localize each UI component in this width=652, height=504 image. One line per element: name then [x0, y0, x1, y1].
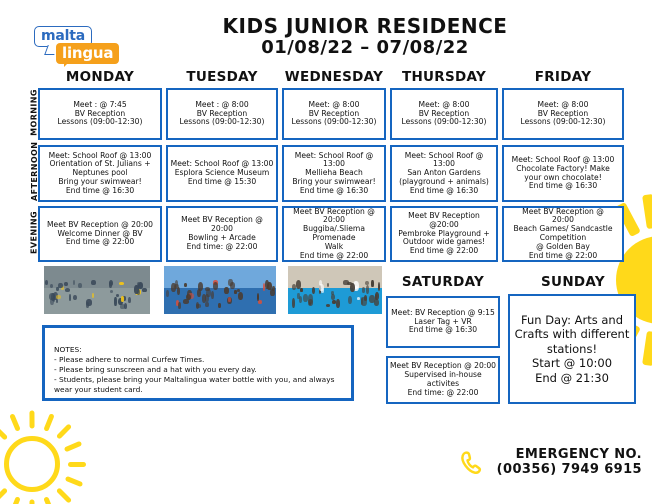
- photo-person: [178, 302, 181, 308]
- photo-person: [369, 295, 375, 303]
- group-boat-party-photo: [164, 266, 276, 314]
- sun-ray: [30, 500, 35, 504]
- schedule-cell-afternoon-wednesday[interactable]: Meet: School Roof @ 13:00 Mellieha Beach…: [282, 145, 386, 202]
- schedule-cell-afternoon-thursday[interactable]: Meet: School Roof @ 13:00 San Anton Gard…: [390, 145, 498, 202]
- photo-person: [237, 289, 240, 292]
- sun-ray: [9, 496, 20, 504]
- photo-person: [378, 282, 380, 291]
- photo-person: [65, 288, 71, 292]
- schedule-cell-morning-thursday[interactable]: Meet: @ 8:00 BV Reception Lessons (09:00…: [390, 88, 498, 140]
- schedule-cell-morning-monday[interactable]: Meet : @ 7:45 BV Reception Lessons (09:0…: [38, 88, 162, 140]
- photo-person: [336, 299, 340, 308]
- schedule-cell-evening-thursday[interactable]: Meet BV Reception @20:00 Pembroke Playgr…: [390, 206, 498, 262]
- photo-person: [186, 294, 191, 300]
- photo-person: [343, 280, 348, 284]
- sun-ray: [56, 488, 72, 504]
- sun-ray: [64, 441, 83, 453]
- sun-ray: [55, 424, 71, 440]
- notes-text: NOTES: - Please adhere to normal Curfew …: [54, 345, 345, 395]
- photo-person: [228, 297, 230, 302]
- sun-ray: [0, 424, 8, 440]
- maltalingua-logo: malta lingua: [34, 26, 130, 62]
- photo-person: [177, 287, 180, 295]
- emergency-contact: EMERGENCY NO. (00356) 7949 6915: [497, 448, 642, 478]
- notes-box: NOTES: - Please adhere to normal Curfew …: [42, 325, 354, 401]
- photo-person: [297, 293, 300, 299]
- date-range: 01/08/22 – 07/08/22: [215, 38, 515, 58]
- photo-person: [238, 292, 243, 300]
- photo-person: [91, 280, 96, 285]
- schedule-cell-evening-wednesday[interactable]: Meet BV Reception @ 20:00 Buggiba/.Sliem…: [282, 206, 386, 262]
- photo-person: [58, 283, 62, 288]
- day-header-sunday: SUNDAY: [512, 274, 634, 290]
- photo-person: [332, 300, 336, 304]
- schedule-cell-evening-tuesday[interactable]: Meet BV Reception @ 20:00 Bowling + Arca…: [166, 206, 278, 262]
- photo-person: [213, 282, 218, 290]
- sun-ray: [64, 475, 83, 486]
- photo-person: [230, 282, 235, 288]
- photo-person: [224, 287, 229, 294]
- photo-person: [184, 283, 187, 287]
- photo-person: [371, 280, 373, 287]
- sun-ray: [43, 413, 54, 432]
- photo-person: [303, 294, 308, 302]
- schedule-cell-evening-monday[interactable]: Meet BV Reception @ 20:00 Welcome Dinner…: [38, 206, 162, 262]
- photo-person: [205, 294, 209, 302]
- day-header-saturday: SATURDAY: [384, 274, 502, 290]
- photo-person: [258, 300, 262, 304]
- photo-person: [205, 302, 209, 307]
- group-aerial-photo: [44, 266, 150, 314]
- photo-person: [45, 280, 49, 286]
- photo-person: [86, 302, 89, 308]
- photo-person: [124, 303, 127, 309]
- photo-person: [78, 283, 82, 288]
- photo-person: [73, 280, 75, 285]
- photo-person: [142, 288, 147, 292]
- photo-person: [292, 298, 295, 308]
- sun-ray: [642, 194, 652, 229]
- schedule-cell-morning-tuesday[interactable]: Meet : @ 8:00 BV Reception Lessons (09:0…: [166, 88, 278, 140]
- sun-core: [4, 436, 60, 492]
- day-header-thursday: THURSDAY: [390, 69, 498, 85]
- photo-person: [218, 303, 221, 308]
- photo-person: [296, 280, 302, 289]
- sun-ray: [29, 410, 34, 428]
- photo-background: [164, 266, 276, 289]
- sun-ray: [9, 413, 21, 432]
- schedule-cell-afternoon-friday[interactable]: Meet: School Roof @ 13:00 Chocolate Fact…: [502, 145, 624, 202]
- photo-person: [327, 283, 329, 287]
- schedule-cell-morning-friday[interactable]: Meet: @ 8:00 BV Reception Lessons (09:00…: [502, 88, 624, 140]
- schedule-cell-sunday[interactable]: Fun Day: Arts and Crafts with different …: [508, 294, 636, 404]
- schedule-cell-saturday-daytime[interactable]: Meet: BV Reception @ 9:15 Laser Tag + VR…: [386, 296, 500, 348]
- photo-person: [365, 281, 369, 286]
- photo-person: [134, 285, 139, 294]
- day-header-friday: FRIDAY: [502, 69, 624, 85]
- schedule-cell-evening-friday[interactable]: Meet BV Reception @ 20:00 Beach Games/ S…: [502, 206, 624, 262]
- photo-person: [114, 297, 116, 305]
- photo-person: [366, 285, 369, 294]
- group-poolside-photo: [288, 266, 382, 314]
- day-header-monday: MONDAY: [38, 69, 162, 85]
- schedule-cell-saturday-evening[interactable]: Meet BV Reception @ 20:00 Supervised in-…: [386, 356, 500, 404]
- day-header-tuesday: TUESDAY: [166, 69, 278, 85]
- photo-person: [196, 302, 199, 309]
- photo-person: [265, 280, 269, 289]
- photo-person: [272, 286, 275, 291]
- photo-person: [300, 288, 303, 293]
- schedule-cell-afternoon-monday[interactable]: Meet: School Roof @ 13:00 Orientation of…: [38, 145, 162, 202]
- schedule-cell-afternoon-tuesday[interactable]: Meet: School Roof @ 13:00 Esplora Scienc…: [166, 145, 278, 202]
- logo-lingua-text: lingua: [56, 43, 119, 64]
- sun-ray: [44, 496, 56, 504]
- photo-person: [350, 283, 355, 292]
- emergency-label: EMERGENCY NO.: [497, 448, 642, 463]
- poster-title-block: KIDS JUNIOR RESIDENCE 01/08/22 – 07/08/2…: [215, 16, 515, 58]
- sun-ray: [68, 462, 86, 467]
- photo-person: [211, 291, 214, 299]
- schedule-cell-morning-wednesday[interactable]: Meet: @ 8:00 BV Reception Lessons (09:00…: [282, 88, 386, 140]
- emergency-number: (00356) 7949 6915: [497, 463, 642, 478]
- photo-person: [331, 291, 335, 295]
- photo-person: [49, 293, 55, 299]
- photo-person: [128, 297, 131, 304]
- schedule-poster: malta lingua KIDS JUNIOR RESIDENCE 01/08…: [0, 0, 652, 504]
- sun-decoration-left: [0, 404, 92, 504]
- photo-person: [234, 290, 237, 293]
- phone-icon: [459, 450, 487, 478]
- photo-person: [110, 290, 113, 293]
- sun-ray: [0, 488, 8, 504]
- day-header-wednesday: WEDNESDAY: [282, 69, 386, 85]
- page-title: KIDS JUNIOR RESIDENCE: [215, 16, 515, 37]
- photo-person: [357, 297, 360, 300]
- photo-person: [166, 290, 169, 297]
- sun-ray: [642, 331, 652, 366]
